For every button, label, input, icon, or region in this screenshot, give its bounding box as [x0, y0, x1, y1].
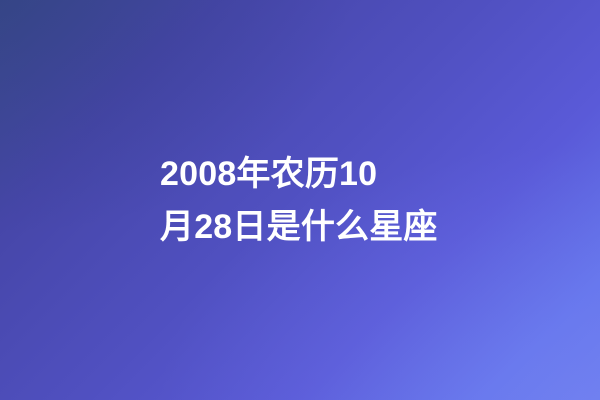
title-card: 2008年农历10 月28日是什么星座: [0, 0, 600, 400]
headline-text-block: 2008年农历10 月28日是什么星座: [160, 148, 460, 254]
headline-line-1: 2008年农历10: [160, 148, 460, 201]
headline-line-2: 月28日是什么星座: [160, 201, 460, 254]
